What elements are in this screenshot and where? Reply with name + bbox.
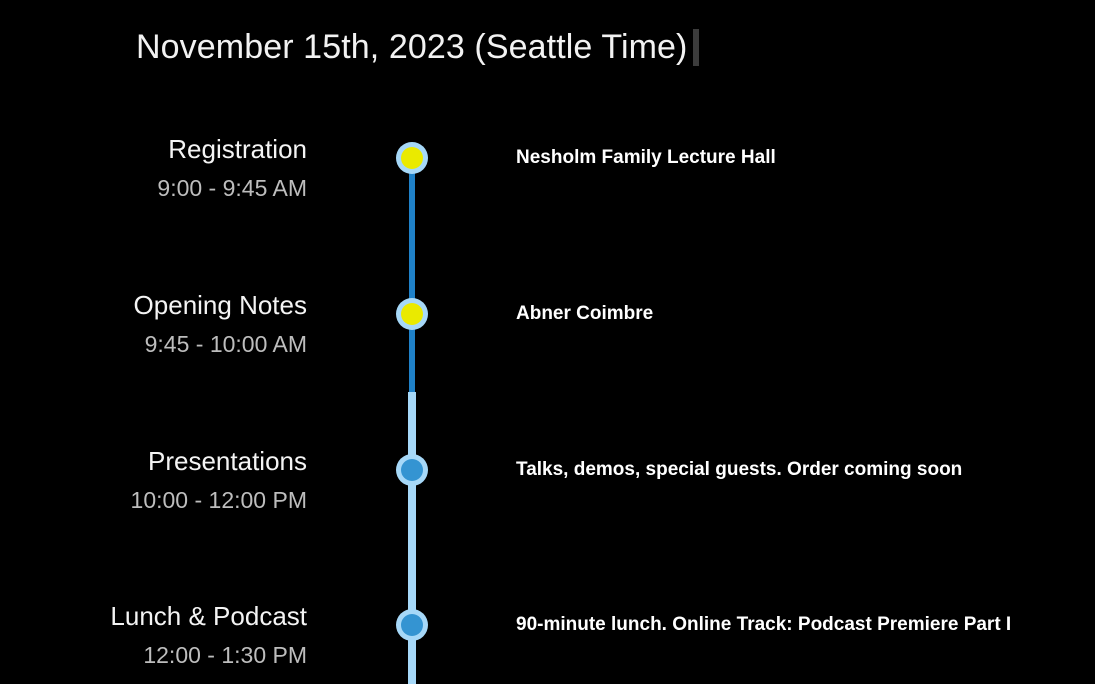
timeline-dot-icon[interactable] [396, 454, 428, 486]
timeline-event-description: Abner Coimbre [516, 301, 1086, 327]
timeline-dot-core-icon [401, 147, 423, 169]
timeline-dot-icon[interactable] [396, 609, 428, 641]
text-cursor-caret [693, 29, 699, 66]
timeline-event-name: Lunch & Podcast [0, 599, 307, 633]
timeline-dot-icon[interactable] [396, 298, 428, 330]
timeline-event-labels: Presentations 10:00 - 12:00 PM [0, 444, 307, 516]
timeline-dot-core-icon [401, 459, 423, 481]
timeline-event-name: Presentations [0, 444, 307, 478]
timeline-event-description: 90-minute lunch. Online Track: Podcast P… [516, 612, 1086, 638]
timeline-dot-core-icon [401, 303, 423, 325]
timeline-event-name: Opening Notes [0, 288, 307, 322]
timeline-event-time: 12:00 - 1:30 PM [0, 639, 307, 671]
page-title: November 15th, 2023 (Seattle Time) [136, 24, 687, 70]
timeline-event-time: 9:00 - 9:45 AM [0, 172, 307, 204]
timeline-event-labels: Registration 9:00 - 9:45 AM [0, 132, 307, 204]
timeline-rail-active [409, 158, 415, 392]
timeline-event-name: Registration [0, 132, 307, 166]
timeline-dot-icon[interactable] [396, 142, 428, 174]
page-header: November 15th, 2023 (Seattle Time) [0, 0, 1095, 96]
timeline: Registration 9:00 - 9:45 AM Nesholm Fami… [0, 96, 1095, 684]
timeline-dot-core-icon [401, 614, 423, 636]
timeline-event-description: Nesholm Family Lecture Hall [516, 145, 1086, 171]
timeline-event-labels: Lunch & Podcast 12:00 - 1:30 PM [0, 599, 307, 671]
timeline-event-time: 10:00 - 12:00 PM [0, 484, 307, 516]
timeline-event-description: Talks, demos, special guests. Order comi… [516, 457, 1086, 483]
timeline-event-labels: Opening Notes 9:45 - 10:00 AM [0, 288, 307, 360]
timeline-event-time: 9:45 - 10:00 AM [0, 328, 307, 360]
